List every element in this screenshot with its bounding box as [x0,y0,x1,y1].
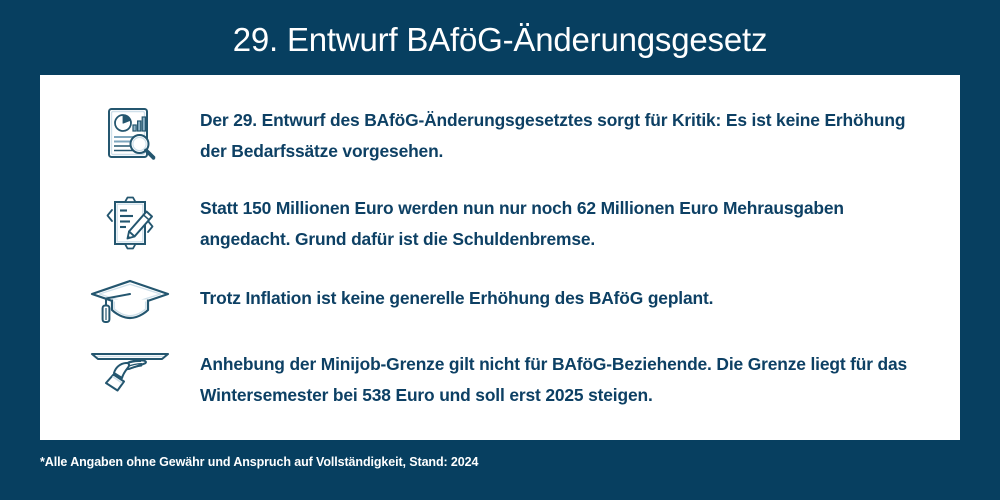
document-analysis-icon [99,103,161,165]
icon-container [60,345,200,393]
list-item: Der 29. Entwurf des BAföG-Änderungsgeset… [40,101,960,189]
page-title: 29. Entwurf BAföG-Änderungsgesetz [0,20,1000,60]
footer-disclaimer: *Alle Angaben ohne Gewähr und Anspruch a… [40,455,478,469]
list-item-text: Der 29. Entwurf des BAföG-Änderungsgeset… [200,101,930,167]
icon-container [60,189,200,253]
infographic-root: 29. Entwurf BAföG-Änderungsgesetz [0,0,1000,500]
clipboard-pencil-icon [99,191,161,253]
list-item: Anhebung der Minijob-Grenze gilt nicht f… [40,345,960,433]
list-item: Statt 150 Millionen Euro werden nun nur … [40,189,960,277]
list-item: Trotz Inflation ist keine generelle Erhö… [40,277,960,345]
icon-container [60,101,200,165]
list-item-text: Trotz Inflation ist keine generelle Erhö… [200,277,930,314]
list-item-text: Statt 150 Millionen Euro werden nun nur … [200,189,930,255]
icon-container [60,277,200,325]
list-item-text: Anhebung der Minijob-Grenze gilt nicht f… [200,345,930,411]
fact-list: Der 29. Entwurf des BAföG-Änderungsgeset… [40,75,960,440]
graduation-cap-icon [88,277,172,325]
content-card: Der 29. Entwurf des BAföG-Änderungsgeset… [40,75,960,440]
serving-hand-tray-icon [88,345,172,393]
